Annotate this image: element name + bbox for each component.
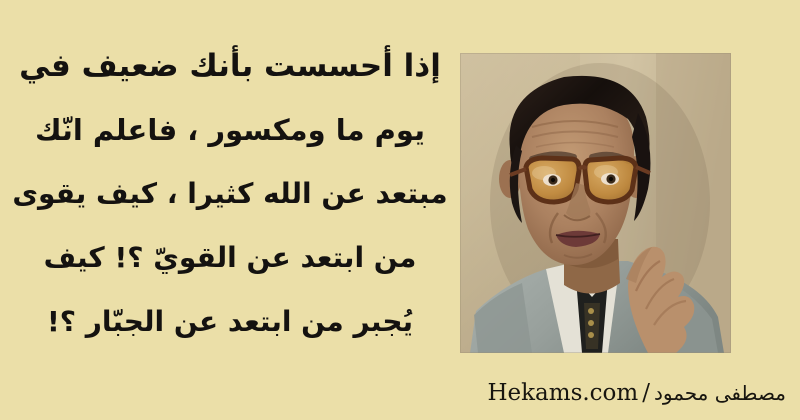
quote-line-3: مبتعد عن الله كثيرا ، كيف يقوى	[4, 162, 456, 226]
site-name: Hekams.com	[487, 380, 638, 406]
portrait-illustration	[460, 53, 731, 353]
necktie-dot	[588, 332, 594, 338]
pupil-left	[551, 178, 555, 182]
quote-card: إذا أحسست بأنك ضعيف في يوم ما ومكسور ، ف…	[0, 0, 800, 420]
quote-text-block: إذا أحسست بأنك ضعيف في يوم ما ومكسور ، ف…	[0, 34, 460, 354]
quote-line-2: يوم ما ومكسور ، فاعلم انّك	[4, 98, 456, 162]
pupil-right	[609, 177, 613, 181]
author-name: مصطفى محمود	[654, 381, 786, 405]
quote-line-1: إذا أحسست بأنك ضعيف في	[4, 34, 456, 98]
attribution-separator: /	[638, 380, 654, 406]
attribution: مصطفى محمود/Hekams.com	[487, 378, 786, 408]
necktie-dot	[588, 320, 594, 326]
glasses-bridge	[579, 167, 586, 169]
author-portrait-photo	[460, 53, 731, 353]
necktie-dot	[588, 308, 594, 314]
quote-line-4: من ابتعد عن القويّ ؟! كيف	[4, 226, 456, 290]
quote-line-5: يُجبر من ابتعد عن الجبّار ؟!	[4, 290, 456, 354]
